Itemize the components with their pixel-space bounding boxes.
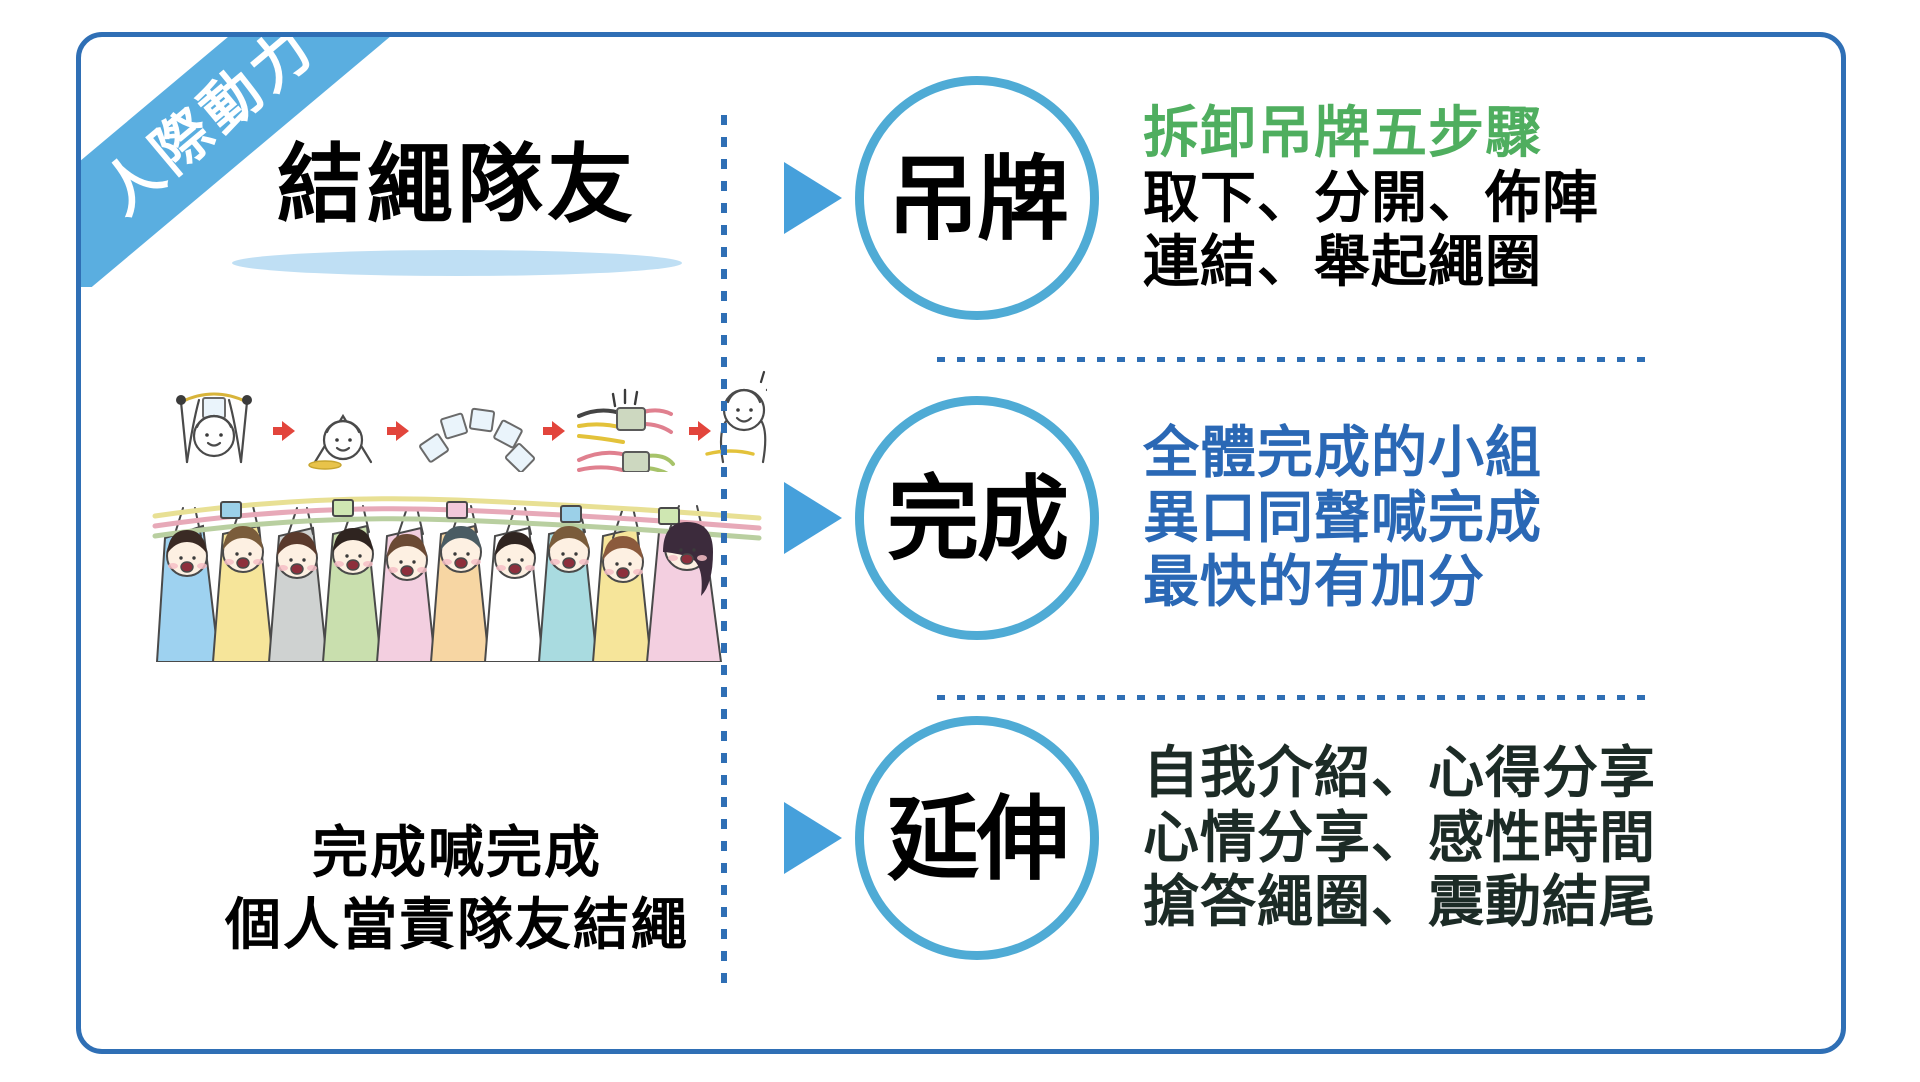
rope-steps-svg [147, 312, 767, 472]
section-3-line-3: 搶答繩圈、震動結尾 [1143, 870, 1831, 935]
vertical-dotted-divider [721, 115, 727, 991]
badge-circle-1: 吊牌 [855, 76, 1099, 320]
play-triangle-3-wrap [771, 802, 855, 874]
horizontal-dotted-divider-1 [937, 357, 1657, 362]
left-caption-line-2: 個人當責隊友結繩 [117, 889, 797, 961]
section-1-line-1: 拆卸吊牌五步驟 [1143, 101, 1831, 166]
section-2-line-1: 全體完成的小組 [1143, 421, 1831, 486]
section-row-yanshen[interactable]: 延伸 自我介紹、心得分享 心情分享、感性時間 搶答繩圈、震動結尾 [771, 697, 1831, 979]
section-row-wancheng[interactable]: 完成 全體完成的小組 異口同聲喊完成 最快的有加分 [771, 377, 1831, 659]
right-panel: 吊牌 拆卸吊牌五步驟 取下、分開、佈陣 連結、舉起繩圈 完成 全體完成的小組 異… [771, 57, 1831, 1037]
play-triangle-2-wrap [771, 482, 855, 554]
rope-steps-illustration [147, 312, 767, 472]
section-2-line-3: 最快的有加分 [1143, 550, 1831, 615]
section-text-2: 全體完成的小組 異口同聲喊完成 最快的有加分 [1099, 421, 1831, 616]
team-crowd-svg [147, 482, 767, 662]
section-1-line-3: 連結、舉起繩圈 [1143, 230, 1831, 295]
left-panel: 結繩隊友 [117, 77, 797, 1007]
play-triangle-icon [784, 162, 842, 234]
slide-card: 人際動力 結繩隊友 [76, 32, 1846, 1054]
section-text-1: 拆卸吊牌五步驟 取下、分開、佈陣 連結、舉起繩圈 [1099, 101, 1831, 296]
section-2-line-2: 異口同聲喊完成 [1143, 486, 1831, 551]
play-triangle-icon [784, 482, 842, 554]
left-caption-line-1: 完成喊完成 [117, 817, 797, 889]
section-row-diaopai[interactable]: 吊牌 拆卸吊牌五步驟 取下、分開、佈陣 連結、舉起繩圈 [771, 57, 1831, 339]
title-underline-ellipse [232, 250, 682, 276]
section-3-line-1: 自我介紹、心得分享 [1143, 741, 1831, 806]
badge-label-2: 完成 [887, 474, 1067, 566]
badge-circle-2: 完成 [855, 396, 1099, 640]
play-triangle-icon [784, 802, 842, 874]
play-triangle-1-wrap [771, 162, 855, 234]
badge-circle-3: 延伸 [855, 716, 1099, 960]
section-3-line-2: 心情分享、感性時間 [1143, 806, 1831, 871]
page-title: 結繩隊友 [117, 139, 797, 232]
left-caption: 完成喊完成 個人當責隊友結繩 [117, 817, 797, 960]
section-1-line-2: 取下、分開、佈陣 [1143, 166, 1831, 231]
team-crowd-illustration [147, 482, 767, 662]
badge-label-3: 延伸 [887, 794, 1067, 886]
badge-label-1: 吊牌 [887, 154, 1067, 246]
section-text-3: 自我介紹、心得分享 心情分享、感性時間 搶答繩圈、震動結尾 [1099, 741, 1831, 936]
